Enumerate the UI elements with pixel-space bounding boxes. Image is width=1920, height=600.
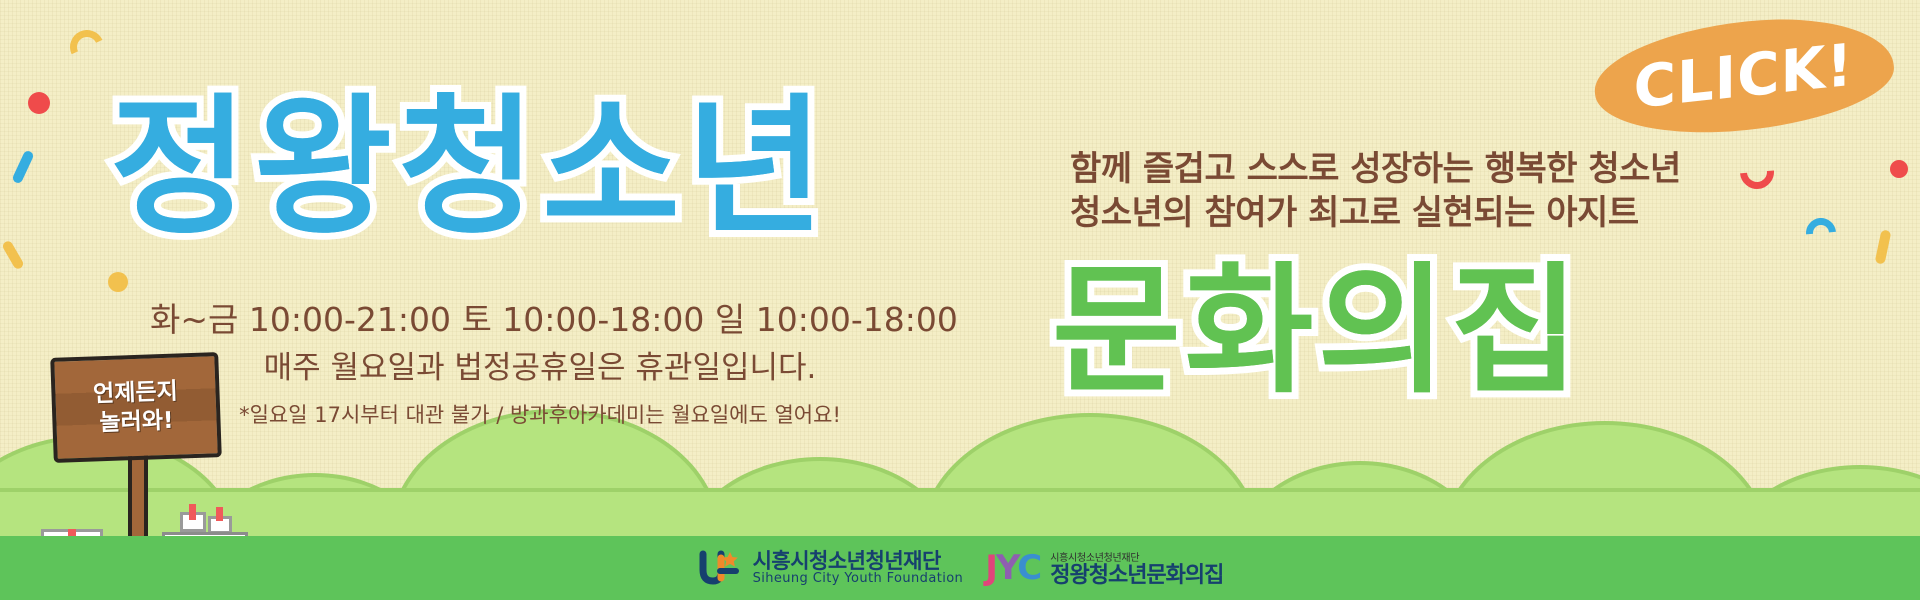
footer-bar: 시흥시청소년청년재단 Siheung City Youth Foundation…	[0, 536, 1920, 600]
confetti-dot-red-icon	[28, 92, 50, 114]
confetti-squiggle-red-icon	[1733, 148, 1781, 196]
tagline-line-2: 청소년의 참여가 최고로 실현되는 아지트	[1070, 192, 1681, 236]
jyc-mark-icon: JYC	[985, 548, 1040, 588]
confetti-dot-red-right-icon	[1890, 160, 1908, 178]
sign-line-1: 언제든지	[93, 377, 179, 409]
logo-siheung-name-kr: 시흥시청소년청년재단	[753, 550, 964, 572]
confetti-dot-yellow-icon	[108, 272, 128, 292]
jyc-letter-j: J	[985, 548, 996, 588]
tagline-line-1: 함께 즐겁고 스스로 성장하는 행복한 청소년	[1070, 148, 1681, 192]
hours-note: *일요일 17시부터 대관 불가 / 방과후아카데미는 월요일에도 열어요!	[150, 398, 930, 434]
sign-line-2: 놀러와!	[99, 406, 174, 437]
confetti-bar-orange-icon	[1875, 229, 1892, 264]
logo-jyc-name: 정왕청소년문화의집	[1050, 563, 1223, 588]
jyc-letter-y: Y	[996, 548, 1017, 588]
click-button-label: CLICK!	[1634, 30, 1854, 121]
logo-jyc-superscript: 시흥시청소년청년재단	[1050, 549, 1223, 564]
basket-ribbon-1	[189, 504, 196, 520]
confetti-squiggle-yellow-icon	[65, 25, 109, 69]
confetti-bar-yellow-icon	[1, 240, 25, 271]
logo-jyc-text: 시흥시청소년청년재단 정왕청소년문화의집	[1050, 549, 1223, 587]
logo-siheung-foundation[interactable]: 시흥시청소년청년재단 Siheung City Youth Foundation	[697, 548, 964, 588]
siheung-foundation-mark-icon	[697, 548, 743, 588]
logo-siheung-text: 시흥시청소년청년재단 Siheung City Youth Foundation	[753, 550, 964, 587]
confetti-bar-blue-icon	[11, 149, 34, 184]
jyc-letter-c: C	[1017, 548, 1040, 588]
tagline-block: 함께 즐겁고 스스로 성장하는 행복한 청소년 청소년의 참여가 최고로 실현되…	[1070, 148, 1681, 235]
hours-line-2: 매주 월요일과 법정공휴일은 휴관일입니다.	[150, 344, 930, 392]
basket-ribbon-2	[216, 507, 223, 521]
confetti-squiggle-blue-icon	[1800, 212, 1842, 254]
logo-siheung-name-en: Siheung City Youth Foundation	[753, 572, 964, 587]
click-button[interactable]: CLICK!	[1589, 7, 1899, 146]
headline-main: 정왕청소년	[110, 46, 830, 263]
banner-root: CLICK! 정왕청소년 정왕청소년 문화의집 문화의집 함께 즐겁고 스스로 …	[0, 0, 1920, 600]
hours-block: 화~금 10:00-21:00 토 10:00-18:00 일 10:00-18…	[150, 296, 930, 434]
hours-line-1: 화~금 10:00-21:00 토 10:00-18:00 일 10:00-18…	[150, 296, 930, 344]
headline-sub: 문화의집	[1052, 218, 1583, 420]
sign-board[interactable]: 언제든지 놀러와!	[50, 352, 222, 463]
logo-jyc[interactable]: JYC 시흥시청소년청년재단 정왕청소년문화의집	[985, 548, 1223, 588]
